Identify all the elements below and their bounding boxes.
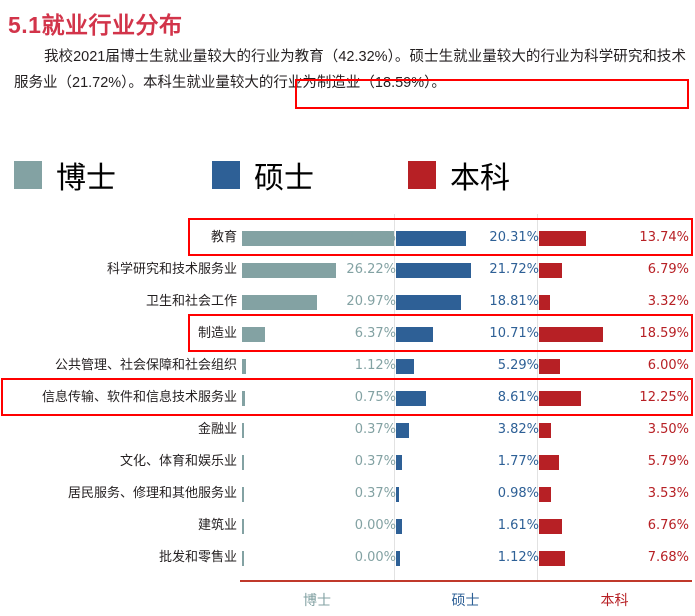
chart-bar-value: 8.61% bbox=[498, 382, 539, 414]
chart-bar[interactable] bbox=[539, 295, 550, 310]
chart-panel-bachelor: 13.74% bbox=[539, 222, 692, 254]
chart-bar[interactable] bbox=[396, 327, 433, 342]
chart-bar-value: 26.22% bbox=[346, 254, 396, 286]
chart-bar[interactable] bbox=[539, 263, 562, 278]
chart-panel-bachelor: 6.79% bbox=[539, 254, 692, 286]
page-title: 5.1就业行业分布 bbox=[8, 6, 182, 40]
chart-row-label: 居民服务、修理和其他服务业 bbox=[0, 478, 237, 510]
legend-swatch-master bbox=[212, 161, 240, 189]
chart-bar-value: 5.79% bbox=[648, 446, 689, 478]
chart-panel-master: 5.29% bbox=[396, 350, 539, 382]
chart-bar-value: 3.82% bbox=[498, 414, 539, 446]
chart-bar-value: 1.12% bbox=[498, 542, 539, 574]
chart-panel-master: 10.71% bbox=[396, 318, 539, 350]
paragraph-text-highlighted: 本科生就业量较大的行业为制造业（18.59%）。 bbox=[143, 75, 446, 91]
chart-bar-value: 10.71% bbox=[489, 318, 539, 350]
chart-bar-value: 20.97% bbox=[346, 286, 396, 318]
chart-panel-bachelor: 6.00% bbox=[539, 350, 692, 382]
chart-panel-doctor: 0.37% bbox=[240, 478, 396, 510]
chart-bar-value: 18.59% bbox=[639, 318, 689, 350]
chart-bar[interactable] bbox=[242, 423, 244, 438]
chart-row-label: 批发和零售业 bbox=[0, 542, 237, 574]
legend-item-bachelor[interactable]: 本科 bbox=[408, 150, 510, 200]
chart-bar-value: 0.37% bbox=[355, 478, 396, 510]
chart-panel-doctor: 0.00% bbox=[240, 542, 396, 574]
chart-bar-value: 6.76% bbox=[648, 510, 689, 542]
legend-label-doctor: 博士 bbox=[56, 153, 116, 197]
chart-row-label: 信息传输、软件和信息技术服务业 bbox=[0, 382, 237, 414]
chart-bar[interactable] bbox=[539, 231, 586, 246]
chart-bar[interactable] bbox=[242, 551, 244, 566]
chart-bar[interactable] bbox=[396, 263, 471, 278]
chart-legend: 博士 硕士 本科 bbox=[0, 150, 695, 200]
chart-bar[interactable] bbox=[242, 519, 244, 534]
chart-bar[interactable] bbox=[242, 391, 245, 406]
chart-panel-doctor: 0.37% bbox=[240, 446, 396, 478]
chart-panel-master: 3.82% bbox=[396, 414, 539, 446]
chart-row-label: 建筑业 bbox=[0, 510, 237, 542]
chart-panel-bachelor: 3.32% bbox=[539, 286, 692, 318]
chart-panel-master: 20.31% bbox=[396, 222, 539, 254]
chart-bar-value: 13.74% bbox=[639, 222, 689, 254]
chart-row: 批发和零售业0.00%1.12%7.68% bbox=[0, 542, 695, 574]
chart-row-label: 公共管理、社会保障和社会组织 bbox=[0, 350, 237, 382]
chart-panel-doctor: 6.37% bbox=[240, 318, 396, 350]
chart-bar[interactable] bbox=[539, 391, 581, 406]
chart-bar-value: 0.00% bbox=[355, 510, 396, 542]
chart-panel-bachelor: 3.50% bbox=[539, 414, 692, 446]
chart-panel-bachelor: 12.25% bbox=[539, 382, 692, 414]
chart-panel-doctor: 0.37% bbox=[240, 414, 396, 446]
chart-bar[interactable] bbox=[539, 423, 551, 438]
chart-panel-doctor: 0.00% bbox=[240, 510, 396, 542]
chart-row: 建筑业0.00%1.61%6.76% bbox=[0, 510, 695, 542]
chart-bar-value: 1.61% bbox=[498, 510, 539, 542]
chart-bar[interactable] bbox=[539, 455, 559, 470]
chart-bar[interactable] bbox=[396, 359, 414, 374]
chart-bar[interactable] bbox=[396, 455, 402, 470]
chart-panel-master: 1.12% bbox=[396, 542, 539, 574]
chart-bar-value: 6.79% bbox=[648, 254, 689, 286]
chart-row: 信息传输、软件和信息技术服务业0.75%8.61%12.25% bbox=[0, 382, 695, 414]
chart-bar-value: 0.98% bbox=[498, 478, 539, 510]
chart-bar-value: 5.29% bbox=[498, 350, 539, 382]
chart-row: 教育42.32%20.31%13.74% bbox=[0, 222, 695, 254]
chart-panel-master: 1.61% bbox=[396, 510, 539, 542]
chart-axis-line bbox=[240, 580, 692, 582]
chart-row: 公共管理、社会保障和社会组织1.12%5.29%6.00% bbox=[0, 350, 695, 382]
chart-panel-doctor: 26.22% bbox=[240, 254, 396, 286]
chart-row-label: 卫生和社会工作 bbox=[0, 286, 237, 318]
chart-panel-bachelor: 5.79% bbox=[539, 446, 692, 478]
chart-bar-value: 1.12% bbox=[355, 350, 396, 382]
legend-swatch-doctor bbox=[14, 161, 42, 189]
legend-label-master: 硕士 bbox=[254, 153, 314, 197]
chart-bar[interactable] bbox=[396, 295, 461, 310]
chart-bar[interactable] bbox=[242, 455, 244, 470]
chart-bar-value: 3.53% bbox=[648, 478, 689, 510]
chart-bar-value: 0.75% bbox=[355, 382, 396, 414]
axis-tick-doctor: 博士 bbox=[240, 588, 394, 614]
chart-panel-doctor: 0.75% bbox=[240, 382, 396, 414]
chart-bar-value: 18.81% bbox=[489, 286, 539, 318]
chart-panel-bachelor: 7.68% bbox=[539, 542, 692, 574]
chart-panel-master: 0.98% bbox=[396, 478, 539, 510]
chart-bar-value: 3.50% bbox=[648, 414, 689, 446]
chart-row: 文化、体育和娱乐业0.37%1.77%5.79% bbox=[0, 446, 695, 478]
chart-bar-value: 1.77% bbox=[498, 446, 539, 478]
chart-bar[interactable] bbox=[539, 551, 565, 566]
chart-row: 制造业6.37%10.71%18.59% bbox=[0, 318, 695, 350]
chart-bar[interactable] bbox=[242, 327, 265, 342]
chart-panel-bachelor: 3.53% bbox=[539, 478, 692, 510]
chart-row-label: 制造业 bbox=[0, 318, 237, 350]
chart-bar[interactable] bbox=[396, 423, 409, 438]
chart-bar-value: 7.68% bbox=[648, 542, 689, 574]
chart-bar[interactable] bbox=[396, 487, 399, 502]
chart-bar-value: 3.32% bbox=[648, 286, 689, 318]
chart-panel-doctor: 42.32% bbox=[240, 222, 396, 254]
chart-row: 科学研究和技术服务业26.22%21.72%6.79% bbox=[0, 254, 695, 286]
legend-label-bachelor: 本科 bbox=[450, 153, 510, 197]
chart-row-label: 科学研究和技术服务业 bbox=[0, 254, 237, 286]
chart-panel-master: 18.81% bbox=[396, 286, 539, 318]
chart-panel-doctor: 20.97% bbox=[240, 286, 396, 318]
chart-bar[interactable] bbox=[396, 391, 426, 406]
chart-bar-value: 20.31% bbox=[489, 222, 539, 254]
axis-tick-bachelor: 本科 bbox=[537, 588, 692, 614]
chart-row-label: 金融业 bbox=[0, 414, 237, 446]
chart-panel-master: 8.61% bbox=[396, 382, 539, 414]
chart-row-label: 教育 bbox=[0, 222, 237, 254]
legend-item-master[interactable]: 硕士 bbox=[212, 150, 314, 200]
chart-row: 卫生和社会工作20.97%18.81%3.32% bbox=[0, 286, 695, 318]
axis-tick-master: 硕士 bbox=[394, 588, 537, 614]
chart-bar[interactable] bbox=[242, 263, 336, 278]
chart-row-label: 文化、体育和娱乐业 bbox=[0, 446, 237, 478]
chart-bar[interactable] bbox=[539, 487, 551, 502]
chart-bar[interactable] bbox=[539, 359, 560, 374]
chart-bar[interactable] bbox=[242, 359, 246, 374]
legend-item-doctor[interactable]: 博士 bbox=[14, 150, 116, 200]
chart-bar[interactable] bbox=[242, 487, 244, 502]
chart-bar-value: 6.37% bbox=[355, 318, 396, 350]
chart-bar-value: 0.37% bbox=[355, 446, 396, 478]
chart-panel-master: 1.77% bbox=[396, 446, 539, 478]
legend-swatch-bachelor bbox=[408, 161, 436, 189]
chart-bar-value: 42.32% bbox=[346, 222, 396, 254]
chart-panel-bachelor: 18.59% bbox=[539, 318, 692, 350]
chart-bar[interactable] bbox=[396, 519, 402, 534]
chart-bar[interactable] bbox=[396, 231, 466, 246]
chart-panel-doctor: 1.12% bbox=[240, 350, 396, 382]
chart-bar-value: 21.72% bbox=[489, 254, 539, 286]
chart-bar-value: 0.00% bbox=[355, 542, 396, 574]
chart-plot-area: 教育42.32%20.31%13.74%科学研究和技术服务业26.22%21.7… bbox=[0, 214, 695, 616]
chart-bar[interactable] bbox=[396, 551, 400, 566]
chart-bar[interactable] bbox=[242, 295, 317, 310]
chart-bar-value: 0.37% bbox=[355, 414, 396, 446]
chart-row: 金融业0.37%3.82%3.50% bbox=[0, 414, 695, 446]
chart-bar[interactable] bbox=[539, 327, 603, 342]
chart-panel-bachelor: 6.76% bbox=[539, 510, 692, 542]
chart-bar[interactable] bbox=[539, 519, 562, 534]
chart-bar-value: 6.00% bbox=[648, 350, 689, 382]
chart-bar-value: 12.25% bbox=[639, 382, 689, 414]
chart-panel-master: 21.72% bbox=[396, 254, 539, 286]
chart-row: 居民服务、修理和其他服务业0.37%0.98%3.53% bbox=[0, 478, 695, 510]
intro-paragraph: 我校2021届博士生就业量较大的行业为教育（42.32%）。硕士生就业量较大的行… bbox=[14, 44, 686, 96]
